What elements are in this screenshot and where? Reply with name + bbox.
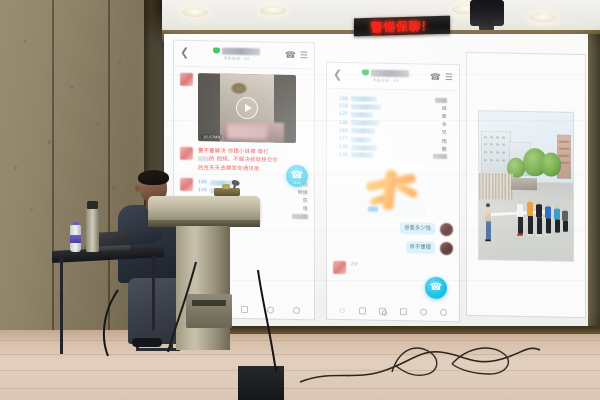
scene: ❮ 手机在线 · 4G ☎ ☰ bbox=[0, 0, 600, 400]
led-banner: 警惕保聊！ bbox=[354, 16, 450, 37]
floor-cables bbox=[0, 0, 600, 400]
led-banner-text: 警惕保聊！ bbox=[371, 17, 434, 36]
